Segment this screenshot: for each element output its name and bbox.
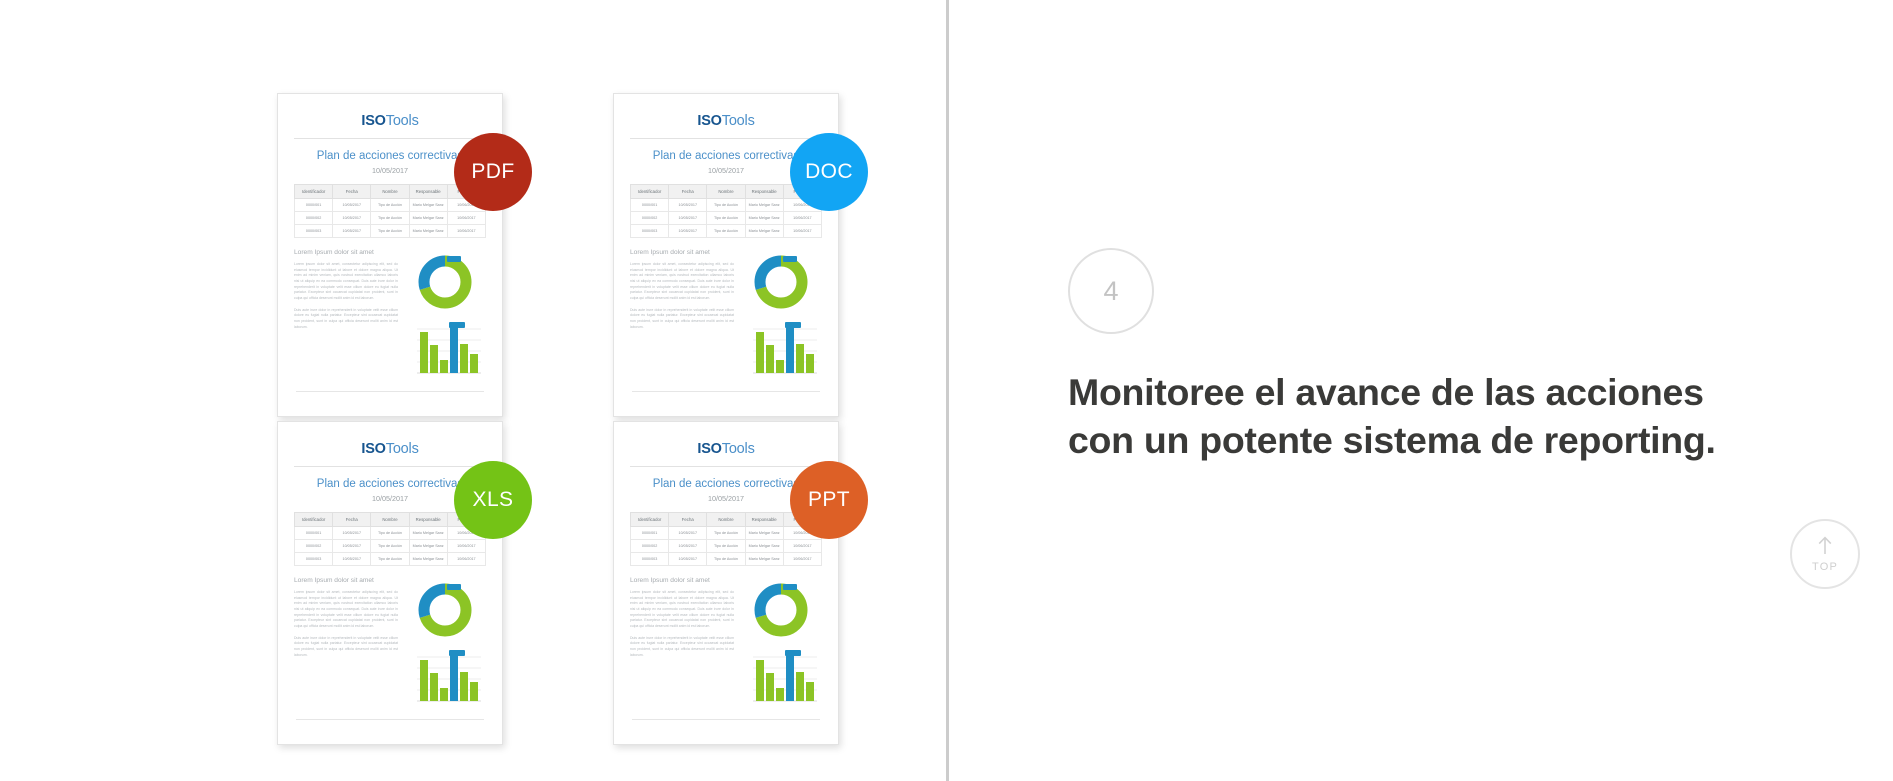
column-header: Fecha — [333, 513, 371, 527]
page-title: Monitoree el avance de las acciones con … — [1068, 368, 1828, 464]
table-row: 0000/001 10/05/2017 Tipo de Acción Mario… — [631, 199, 822, 212]
table-cell: 10/05/2017 — [333, 527, 371, 540]
column-header: Nombre — [707, 513, 745, 527]
table-cell: 10/05/2017 — [333, 212, 371, 225]
table-row: 0000/002 10/05/2017 Tipo de Acción Mario… — [631, 212, 822, 225]
column-header: Responsable — [409, 185, 447, 199]
table-cell: 0000/002 — [295, 212, 333, 225]
table-cell: 10/06/2017 — [447, 225, 485, 238]
column-header: Responsable — [745, 185, 783, 199]
table-row: 0000/002 10/05/2017 Tipo de Acción Mario… — [631, 540, 822, 553]
actions-table: Identificador Fecha Nombre Responsable F… — [294, 184, 486, 238]
headline-line-1: Monitoree el avance de las acciones — [1068, 368, 1828, 416]
format-badge-ppt[interactable]: PPT — [790, 461, 868, 539]
table-cell: Mario Melgar Sanz — [409, 553, 447, 566]
table-cell: 10/06/2017 — [447, 553, 485, 566]
isotools-logo: ISOTools — [630, 436, 822, 466]
logo-tools-text: Tools — [722, 113, 755, 129]
logo-tools-text: Tools — [722, 441, 755, 457]
donut-tooltip — [447, 256, 461, 262]
isotools-logo: ISOTools — [294, 436, 486, 466]
bar-highlighted — [786, 656, 794, 701]
bar — [756, 660, 764, 701]
column-header: Identificador — [295, 513, 333, 527]
body-paragraph: Lorem ipsum dolor sit amet, consectetur … — [630, 262, 734, 302]
table-cell: 10/05/2017 — [333, 225, 371, 238]
format-badge-label: XLS — [473, 488, 514, 512]
table-cell: 10/06/2017 — [447, 540, 485, 553]
actions-table: Identificador Fecha Nombre Responsable F… — [630, 184, 822, 238]
table-cell: Tipo de Acción — [371, 225, 409, 238]
donut-chart — [740, 251, 822, 313]
donut-chart-svg — [414, 579, 476, 641]
footer-divider — [296, 719, 484, 720]
body-subheading: Lorem Ipsum dolor sit amet — [630, 577, 734, 584]
bar-chart — [404, 319, 486, 381]
step-number: 4 — [1103, 276, 1118, 307]
column-header: Fecha — [669, 513, 707, 527]
table-cell: Mario Melgar Sanz — [409, 540, 447, 553]
table-row: 0000/001 10/05/2017 Tipo de Acción Mario… — [631, 527, 822, 540]
bar — [806, 682, 814, 701]
table-cell: Tipo de Acción — [371, 540, 409, 553]
logo-iso-text: ISO — [697, 441, 721, 457]
header-divider — [294, 138, 486, 139]
table-cell: 10/05/2017 — [669, 553, 707, 566]
table-cell: 10/06/2017 — [447, 212, 485, 225]
table-cell: 0000/001 — [631, 199, 669, 212]
logo-iso-text: ISO — [361, 441, 385, 457]
table-cell: Tipo de Acción — [707, 540, 745, 553]
body-paragraph: Duis aute irure dolor in reprehenderit i… — [630, 308, 734, 331]
donut-tooltip — [447, 584, 461, 590]
body-paragraph: Lorem ipsum dolor sit amet, consectetur … — [630, 590, 734, 630]
table-cell: 10/06/2017 — [783, 225, 821, 238]
format-badge-label: PDF — [471, 160, 514, 184]
table-cell: 10/05/2017 — [669, 527, 707, 540]
format-badge-label: DOC — [805, 160, 853, 184]
arrow-up-icon — [1816, 535, 1834, 560]
table-cell: Tipo de Acción — [707, 553, 745, 566]
donut-chart — [404, 579, 486, 641]
table-cell: 10/05/2017 — [333, 199, 371, 212]
body-paragraph: Duis aute irure dolor in reprehenderit i… — [630, 636, 734, 659]
donut-chart — [404, 251, 486, 313]
column-header: Identificador — [631, 185, 669, 199]
bar — [460, 344, 468, 373]
table-cell: Mario Melgar Sanz — [409, 212, 447, 225]
donut-chart-svg — [750, 251, 812, 313]
bar — [470, 682, 478, 701]
table-cell: 10/06/2017 — [783, 540, 821, 553]
donut-tooltip — [783, 256, 797, 262]
table-cell: Tipo de Acción — [371, 553, 409, 566]
donut-chart-svg — [750, 579, 812, 641]
bar — [430, 345, 438, 373]
isotools-logo: ISOTools — [294, 108, 486, 138]
table-cell: Mario Melgar Sanz — [745, 225, 783, 238]
column-header: Identificador — [295, 185, 333, 199]
table-row: 0000/003 10/05/2017 Tipo de Acción Mario… — [295, 553, 486, 566]
bar-tooltip — [785, 650, 801, 656]
bar-highlighted — [786, 328, 794, 373]
table-cell: 0000/001 — [295, 199, 333, 212]
table-cell: Mario Melgar Sanz — [745, 199, 783, 212]
table-cell: Tipo de Acción — [371, 212, 409, 225]
header-divider — [630, 138, 822, 139]
bar — [430, 673, 438, 701]
bar — [420, 332, 428, 373]
bar — [440, 688, 448, 701]
header-divider — [630, 466, 822, 467]
bar-highlighted — [450, 656, 458, 701]
table-cell: 0000/003 — [295, 225, 333, 238]
table-cell: Mario Melgar Sanz — [745, 212, 783, 225]
body-paragraph: Duis aute irure dolor in reprehenderit i… — [294, 308, 398, 331]
table-row: 0000/002 10/05/2017 Tipo de Acción Mario… — [295, 540, 486, 553]
table-cell: 0000/002 — [631, 212, 669, 225]
body-paragraph: Lorem ipsum dolor sit amet, consectetur … — [294, 590, 398, 630]
table-row: 0000/003 10/05/2017 Tipo de Acción Mario… — [631, 553, 822, 566]
column-header: Fecha — [669, 185, 707, 199]
table-cell: 0000/001 — [631, 527, 669, 540]
donut-chart — [740, 579, 822, 641]
column-header: Identificador — [631, 513, 669, 527]
column-header: Nombre — [371, 513, 409, 527]
bar — [440, 360, 448, 373]
table-cell: 10/05/2017 — [333, 553, 371, 566]
table-cell: Tipo de Acción — [371, 199, 409, 212]
footer-divider — [296, 391, 484, 392]
body-paragraph: Lorem ipsum dolor sit amet, consectetur … — [294, 262, 398, 302]
table-cell: Mario Melgar Sanz — [409, 527, 447, 540]
table-cell: 10/06/2017 — [783, 553, 821, 566]
table-cell: 0000/002 — [295, 540, 333, 553]
table-cell: Tipo de Acción — [707, 527, 745, 540]
table-cell: 10/05/2017 — [333, 540, 371, 553]
step-number-badge: 4 — [1068, 248, 1154, 334]
bar — [776, 688, 784, 701]
bar-chart-svg — [743, 647, 819, 709]
format-badge-pdf[interactable]: PDF — [454, 133, 532, 211]
table-cell: 0000/003 — [631, 553, 669, 566]
table-cell: 10/05/2017 — [669, 540, 707, 553]
bar — [796, 672, 804, 701]
bar-chart — [740, 319, 822, 381]
table-cell: Mario Melgar Sanz — [409, 225, 447, 238]
body-paragraph: Duis aute irure dolor in reprehenderit i… — [294, 636, 398, 659]
headline-line-2: con un potente sistema de reporting. — [1068, 416, 1828, 464]
column-header: Fecha — [333, 185, 371, 199]
bar-tooltip — [449, 650, 465, 656]
bar — [766, 673, 774, 701]
bar — [460, 672, 468, 701]
table-cell: 10/05/2017 — [669, 199, 707, 212]
table-cell: 10/05/2017 — [669, 212, 707, 225]
bar — [470, 354, 478, 373]
bar-tooltip — [449, 322, 465, 328]
logo-iso-text: ISO — [361, 113, 385, 129]
footer-divider — [632, 391, 820, 392]
table-row: 0000/003 10/05/2017 Tipo de Acción Mario… — [295, 225, 486, 238]
table-cell: Tipo de Acción — [371, 527, 409, 540]
table-row: 0000/001 10/05/2017 Tipo de Acción Mario… — [295, 527, 486, 540]
table-cell: 10/05/2017 — [669, 225, 707, 238]
bar-chart-svg — [407, 319, 483, 381]
logo-iso-text: ISO — [697, 113, 721, 129]
isotools-logo: ISOTools — [630, 108, 822, 138]
actions-table: Identificador Fecha Nombre Responsable F… — [630, 512, 822, 566]
column-header: Nombre — [707, 185, 745, 199]
table-cell: 0000/001 — [295, 527, 333, 540]
bar — [776, 360, 784, 373]
documents-preview-area: ISOTools Plan de acciones correctivas 10… — [0, 0, 946, 781]
bar — [806, 354, 814, 373]
body-subheading: Lorem Ipsum dolor sit amet — [294, 249, 398, 256]
column-header: Responsable — [745, 513, 783, 527]
body-subheading: Lorem Ipsum dolor sit amet — [630, 249, 734, 256]
bar-chart — [404, 647, 486, 709]
table-row: 0000/001 10/05/2017 Tipo de Acción Mario… — [295, 199, 486, 212]
page-root: ISOTools Plan de acciones correctivas 10… — [0, 0, 1893, 781]
table-cell: Mario Melgar Sanz — [745, 527, 783, 540]
table-cell: Tipo de Acción — [707, 199, 745, 212]
table-cell: 0000/003 — [631, 225, 669, 238]
bar — [766, 345, 774, 373]
actions-table: Identificador Fecha Nombre Responsable F… — [294, 512, 486, 566]
table-cell: 0000/002 — [631, 540, 669, 553]
table-row: 0000/003 10/05/2017 Tipo de Acción Mario… — [631, 225, 822, 238]
bar — [420, 660, 428, 701]
bar-chart-svg — [407, 647, 483, 709]
logo-tools-text: Tools — [386, 113, 419, 129]
table-cell: Tipo de Acción — [707, 225, 745, 238]
table-cell: 0000/003 — [295, 553, 333, 566]
column-header: Responsable — [409, 513, 447, 527]
table-cell: Mario Melgar Sanz — [745, 553, 783, 566]
scroll-to-top-label: TOP — [1812, 561, 1838, 573]
bar — [756, 332, 764, 373]
table-cell: Tipo de Acción — [707, 212, 745, 225]
bar — [796, 344, 804, 373]
bar-chart — [740, 647, 822, 709]
footer-divider — [632, 719, 820, 720]
format-badge-doc[interactable]: DOC — [790, 133, 868, 211]
bar-chart-svg — [743, 319, 819, 381]
table-cell: Mario Melgar Sanz — [745, 540, 783, 553]
table-row: 0000/002 10/05/2017 Tipo de Acción Mario… — [295, 212, 486, 225]
bar-highlighted — [450, 328, 458, 373]
logo-tools-text: Tools — [386, 441, 419, 457]
table-cell: Mario Melgar Sanz — [409, 199, 447, 212]
donut-chart-svg — [414, 251, 476, 313]
bar-tooltip — [785, 322, 801, 328]
format-badge-xls[interactable]: XLS — [454, 461, 532, 539]
table-cell: 10/06/2017 — [783, 212, 821, 225]
donut-tooltip — [783, 584, 797, 590]
format-badge-label: PPT — [808, 488, 850, 512]
body-subheading: Lorem Ipsum dolor sit amet — [294, 577, 398, 584]
scroll-to-top-button[interactable]: TOP — [1790, 519, 1860, 589]
column-header: Nombre — [371, 185, 409, 199]
header-divider — [294, 466, 486, 467]
